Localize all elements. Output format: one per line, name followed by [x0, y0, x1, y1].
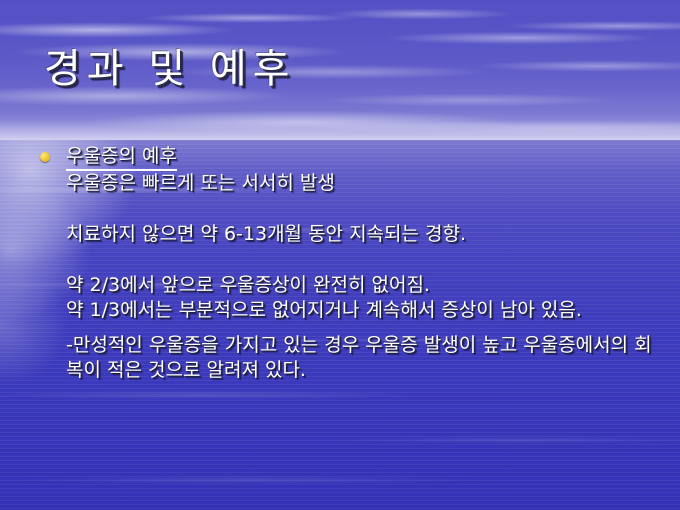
body-line-two-thirds-remission: 약 2/3에서 앞으로 우울증상이 완전히 없어짐.: [66, 273, 660, 298]
paragraph-chronic: -만성적인 우울증을 가지고 있는 경우 우울증 발생이 높고 우울증에서의 회…: [36, 333, 660, 383]
bullet-heading: 우울증의 예후: [66, 144, 177, 171]
paragraph-outcomes: 약 2/3에서 앞으로 우울증상이 완전히 없어짐. 약 1/3에서는 부분적으…: [36, 273, 660, 323]
gold-dot-bullet-icon: [40, 152, 50, 162]
paragraph-duration: 치료하지 않으면 약 6-13개월 동안 지속되는 경향.: [36, 222, 660, 247]
spacer-3: [36, 323, 660, 333]
body-line-onset: 우울증은 빠르게 또는 서서히 발생: [66, 171, 660, 196]
paragraph-intro: 우울증은 빠르게 또는 서서히 발생: [36, 171, 660, 196]
slide-title: 경과 및 예후: [44, 46, 295, 92]
spacer-2: [36, 247, 660, 273]
bullet-list-item: 우울증의 예후: [36, 144, 660, 171]
slide-body: 우울증의 예후 우울증은 빠르게 또는 서서히 발생 치료하지 않으면 약 6-…: [36, 144, 660, 383]
spacer-1: [36, 196, 660, 222]
body-line-one-third-residual: 약 1/3에서는 부분적으로 없어지거나 계속해서 증상이 남아 있음.: [66, 298, 660, 323]
body-line-chronic-depression: -만성적인 우울증을 가지고 있는 경우 우울증 발생이 높고 우울증에서의 회…: [66, 333, 660, 383]
presentation-slide: 경과 및 예후 우울증의 예후 우울증은 빠르게 또는 서서히 발생 치료하지 …: [0, 0, 680, 510]
body-line-untreated-duration: 치료하지 않으면 약 6-13개월 동안 지속되는 경향.: [66, 222, 660, 247]
